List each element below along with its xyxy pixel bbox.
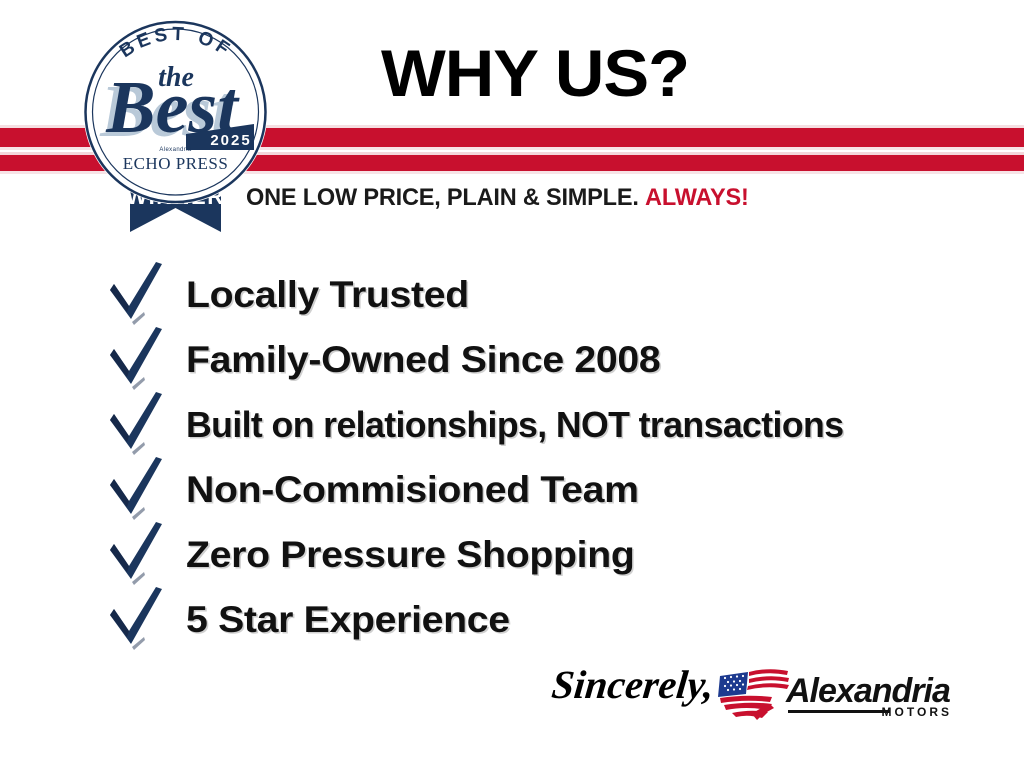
list-item-label: Locally Trusted [186,275,469,315]
list-item: 5 Star Experience [104,587,1004,652]
list-item: Locally Trusted [104,262,1004,327]
list-item: Zero Pressure Shopping [104,522,1004,587]
tagline-main: ONE LOW PRICE, PLAIN & SIMPLE. [246,184,639,211]
check-mark-icon [104,329,170,391]
list-item-label: Zero Pressure Shopping [186,535,634,575]
alexandria-motors-logo: Alexandria MOTORS [712,664,962,728]
badge-year: 2025 [210,132,251,149]
list-item-label: Built on relationships, NOT transactions [186,405,843,445]
check-mark-icon [104,459,170,521]
check-mark-icon [104,394,170,456]
check-mark-icon [104,524,170,586]
badge-sponsor-label: ECHO PRESS [123,154,229,173]
check-mark-icon [104,589,170,651]
tagline-accent: ALWAYS! [645,184,749,211]
why-us-slide: WINNER BEST OF the Best Best 2025 Alexan… [0,0,1024,768]
american-flag-icon [718,668,789,720]
benefits-list: Locally Trusted Family-Owned Since 2008 [104,262,1004,652]
signoff-text: Sincerely, [550,662,717,708]
list-item-label: Non-Commisioned Team [186,470,639,510]
list-item-label: 5 Star Experience [186,600,510,640]
list-item-label: Family-Owned Since 2008 [186,340,660,380]
tagline: ONE LOW PRICE, PLAIN & SIMPLE. ALWAYS! [246,184,749,212]
check-mark-icon [104,264,170,326]
list-item: Non-Commisioned Team [104,457,1004,522]
best-of-the-best-badge: WINNER BEST OF the Best Best 2025 Alexan… [68,8,283,233]
list-item: Family-Owned Since 2008 [104,327,1004,392]
list-item: Built on relationships, NOT transactions [104,392,1004,457]
page-title: WHY US? [291,38,780,108]
badge-sponsor-pretext: Alexandria [159,147,192,153]
brand-subtitle: MOTORS [882,705,952,719]
